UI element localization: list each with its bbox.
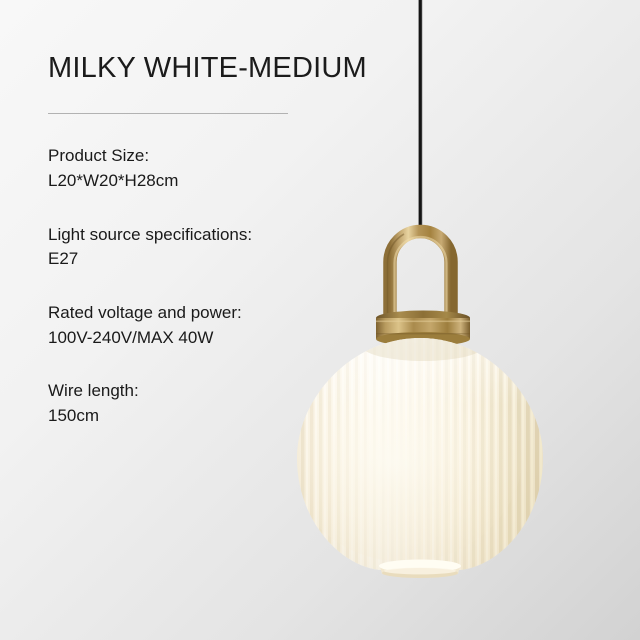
- spec-value: E27: [48, 247, 358, 272]
- spec-label: Light source specifications:: [48, 223, 358, 248]
- page-title: MILKY WHITE-MEDIUM: [48, 52, 358, 85]
- spec-value: 100V-240V/MAX 40W: [48, 326, 358, 351]
- spec-value: 150cm: [48, 404, 358, 429]
- spec-value: L20*W20*H28cm: [48, 169, 358, 194]
- shade-base-rim: [379, 560, 461, 579]
- brass-arch-handle: [388, 231, 452, 320]
- spec-item-light-source: Light source specifications: E27: [48, 223, 358, 272]
- spec-label: Product Size:: [48, 144, 358, 169]
- spec-item-product-size: Product Size: L20*W20*H28cm: [48, 144, 358, 193]
- spec-item-rated-voltage: Rated voltage and power: 100V-240V/MAX 4…: [48, 301, 358, 350]
- specification-panel: MILKY WHITE-MEDIUM Product Size: L20*W20…: [48, 52, 358, 428]
- spec-item-wire-length: Wire length: 150cm: [48, 379, 358, 428]
- product-spec-card: MILKY WHITE-MEDIUM Product Size: L20*W20…: [0, 0, 640, 640]
- title-divider: [48, 113, 288, 114]
- spec-label: Wire length:: [48, 379, 358, 404]
- spec-label: Rated voltage and power:: [48, 301, 358, 326]
